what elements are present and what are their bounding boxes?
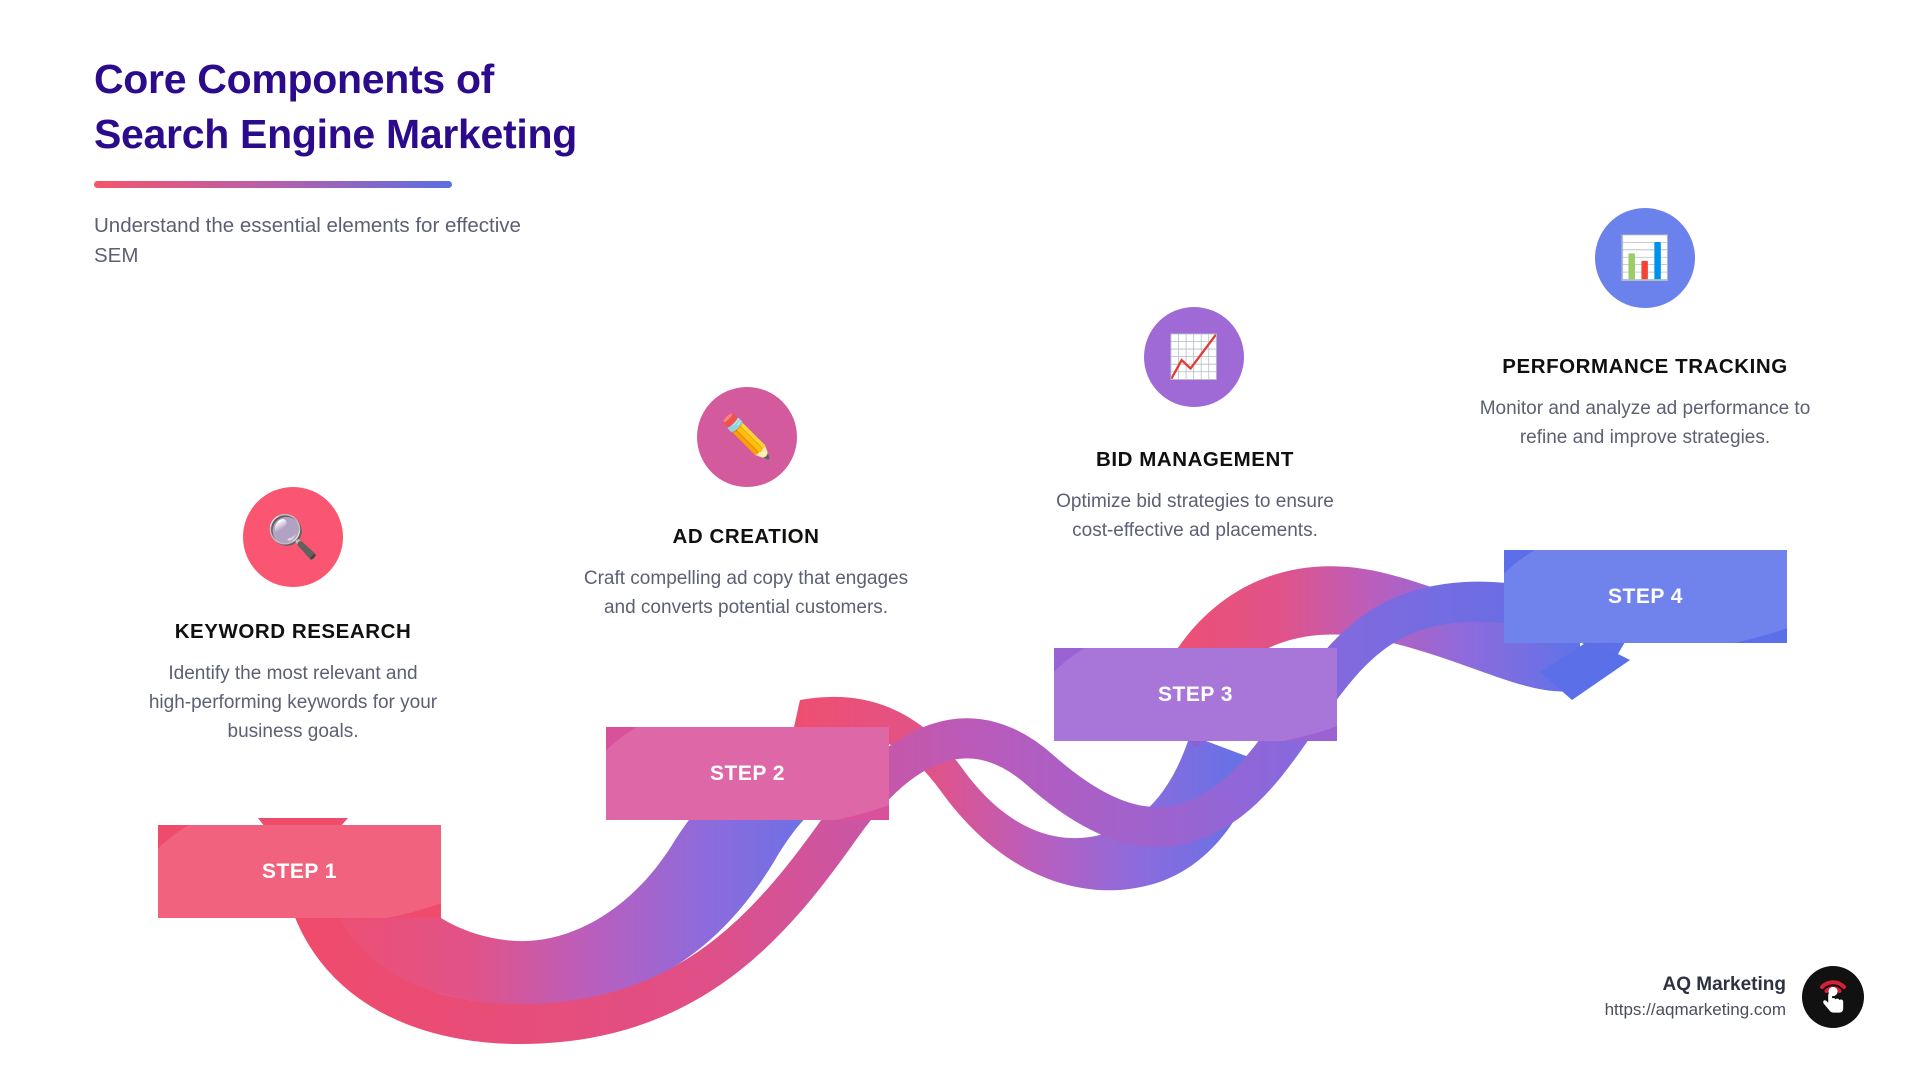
pencil-icon: ✏️ [721, 416, 773, 458]
step-1-heading: KEYWORD RESEARCH [148, 620, 438, 644]
brand-name: AQ Marketing [1605, 974, 1786, 996]
step-3-heading: BID MANAGEMENT [1040, 448, 1350, 472]
step-4-heading: PERFORMANCE TRACKING [1478, 355, 1812, 379]
step-1-icon-badge: 🔍 [243, 487, 343, 587]
step-2-heading: AD CREATION [578, 525, 914, 549]
step-2-text: AD CREATION Craft compelling ad copy tha… [578, 525, 914, 622]
step-4-text: PERFORMANCE TRACKING Monitor and analyze… [1478, 355, 1812, 452]
step-2-description: Craft compelling ad copy that engages an… [578, 564, 914, 622]
step-1-text: KEYWORD RESEARCH Identify the most relev… [148, 620, 438, 746]
step-3-icon-badge: 📈 [1144, 307, 1244, 407]
step-3-description: Optimize bid strategies to ensure cost-e… [1040, 487, 1350, 545]
step-4-banner[interactable]: STEP 4 [1504, 550, 1787, 643]
step-2-banner-label: STEP 2 [710, 762, 785, 786]
brand-url[interactable]: https://aqmarketing.com [1605, 1000, 1786, 1020]
step-1-banner-label: STEP 1 [262, 860, 337, 884]
infographic-canvas: Core Components of Search Engine Marketi… [0, 0, 1920, 1080]
footer-text: AQ Marketing https://aqmarketing.com [1605, 974, 1786, 1020]
step-3-banner-label: STEP 3 [1158, 683, 1233, 707]
step-1-banner[interactable]: STEP 1 [158, 825, 441, 918]
header: Core Components of Search Engine Marketi… [94, 52, 734, 271]
chart-increasing-icon: 📈 [1168, 336, 1220, 378]
step-2-icon-badge: ✏️ [697, 387, 797, 487]
magnifying-glass-icon: 🔍 [267, 516, 319, 558]
bar-chart-icon: 📊 [1619, 237, 1671, 279]
step-3-text: BID MANAGEMENT Optimize bid strategies t… [1040, 448, 1350, 545]
footer-branding: AQ Marketing https://aqmarketing.com [1605, 966, 1864, 1028]
page-title: Core Components of Search Engine Marketi… [94, 52, 734, 163]
page-subtitle: Understand the essential elements for ef… [94, 211, 554, 271]
tap-pointer-logo-icon[interactable] [1802, 966, 1864, 1028]
step-4-icon-badge: 📊 [1595, 208, 1695, 308]
step-4-description: Monitor and analyze ad performance to re… [1478, 394, 1812, 452]
step-4-banner-label: STEP 4 [1608, 585, 1683, 609]
accent-divider [94, 181, 452, 188]
step-2-banner[interactable]: STEP 2 [606, 727, 889, 820]
step-1-description: Identify the most relevant and high-perf… [148, 659, 438, 746]
step-3-banner[interactable]: STEP 3 [1054, 648, 1337, 741]
